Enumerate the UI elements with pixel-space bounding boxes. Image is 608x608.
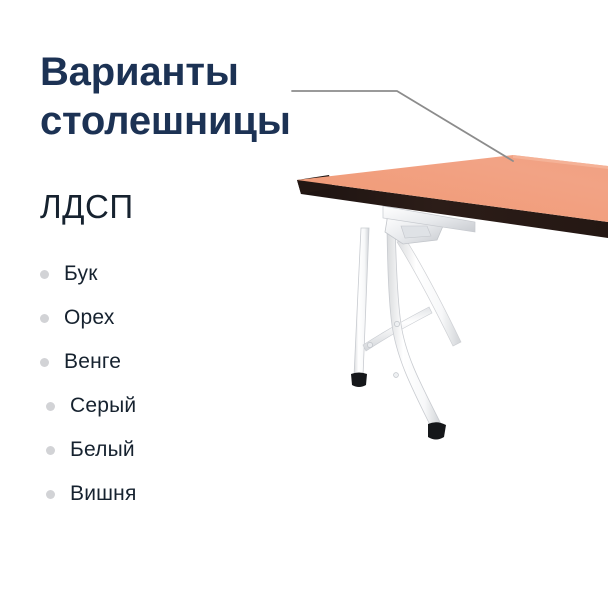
leg-foot-rear-left <box>351 373 367 388</box>
bullet-icon <box>46 446 55 455</box>
material-option-list: Бук Орех Венге Серый Белый Вишня <box>40 252 280 516</box>
list-item: Орех <box>40 296 280 340</box>
list-item: Белый <box>40 428 280 472</box>
hinge-rivet <box>394 321 399 326</box>
folding-table-illustration <box>275 140 608 490</box>
list-item-label: Орех <box>64 306 115 330</box>
list-item: Бук <box>40 252 280 296</box>
bullet-icon <box>46 402 55 411</box>
page-title: Варианты столешницы <box>40 48 330 146</box>
bullet-icon <box>40 314 49 323</box>
hinge-rivet <box>367 342 372 347</box>
list-item-label: Бук <box>64 262 98 286</box>
material-heading: ЛДСП <box>40 188 134 226</box>
leg-foot-front-right <box>428 422 446 439</box>
list-item-label: Венге <box>64 350 121 374</box>
leg-rear-left <box>354 228 369 376</box>
table-frame <box>351 206 475 440</box>
list-item-label: Серый <box>70 394 136 418</box>
list-item-label: Белый <box>70 438 135 462</box>
poster-canvas: Варианты столешницы ЛДСП Бук Орех Венге … <box>0 0 608 608</box>
list-item-label: Вишня <box>70 482 137 506</box>
page-title-line-1: Варианты <box>40 48 330 97</box>
list-item: Серый <box>40 384 280 428</box>
list-item: Вишня <box>40 472 280 516</box>
bullet-icon <box>40 358 49 367</box>
hinge-rivet <box>394 373 399 378</box>
bullet-icon <box>46 490 55 499</box>
folding-hinge-bracket-detail <box>401 226 431 238</box>
folding-strut <box>397 238 461 346</box>
bullet-icon <box>40 270 49 279</box>
list-item: Венге <box>40 340 280 384</box>
page-title-line-2: столешницы <box>40 97 330 146</box>
